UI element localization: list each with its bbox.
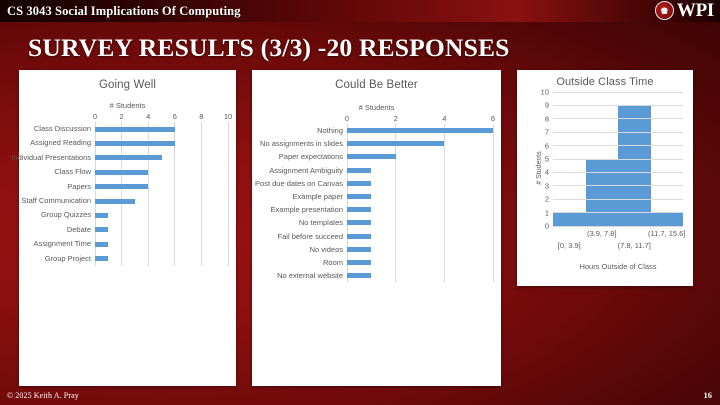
bar-category-label: Example presentation	[270, 203, 343, 216]
bar-row: Nothing	[347, 124, 493, 137]
plot-area-going-well: Class DiscussionAssigned ReadingIndividu…	[95, 122, 228, 266]
bar-category-label: Debate	[67, 223, 91, 237]
bar-category-label: Assignment Ambiguity	[269, 164, 343, 177]
bar-category-label: No external website	[277, 269, 343, 282]
x-tick-label: 8	[199, 112, 203, 122]
bar-category-label: Individual Presentations	[11, 151, 91, 165]
bar-row: Assignment Time	[95, 237, 228, 251]
gridline	[553, 185, 683, 186]
chart-body-going-well: 0246810 Class DiscussionAssigned Reading…	[19, 112, 236, 266]
bar-fill	[347, 194, 371, 199]
bar-row: Papers	[95, 180, 228, 194]
x-tick-label: 10	[224, 112, 232, 122]
y-tick-label: 6	[545, 141, 549, 150]
bar-category-label: No videos	[310, 243, 343, 256]
bar-row: Paper expectations	[347, 150, 493, 163]
footer-page-number: 16	[704, 390, 713, 400]
bar-category-label: Example paper	[293, 190, 343, 203]
histogram-bar	[618, 105, 651, 226]
gridline	[553, 199, 683, 200]
x-tick-label: 6	[491, 114, 495, 124]
bar-rows-going-well: Class DiscussionAssigned ReadingIndividu…	[95, 122, 228, 266]
bar-row: Assigned Reading	[95, 136, 228, 150]
chart-title-outside-class-time: Outside Class Time	[517, 76, 693, 88]
bar-category-label: No assignments in slides	[260, 137, 343, 150]
bar-row: Staff Communication	[95, 194, 228, 208]
bar-row: Assignment Ambiguity	[347, 164, 493, 177]
bar-fill	[347, 234, 371, 239]
histogram-bar	[586, 159, 619, 226]
x-tick-label: 2	[394, 114, 398, 124]
x-tick-label: 2	[120, 112, 124, 122]
bar-category-label: Assigned Reading	[30, 136, 91, 150]
bar-category-label: Paper expectations	[279, 150, 343, 163]
bar-row: Debate	[95, 223, 228, 237]
bar-category-label: Group Project	[45, 252, 91, 266]
bar-fill	[347, 181, 371, 186]
bar-category-label: Assignment Time	[33, 237, 91, 251]
wpi-logo: WPI	[655, 1, 714, 20]
bar-row: Post due dates on Canvas	[347, 177, 493, 190]
chart-panel-could-be-better: Could Be Better # Students 0246 NothingN…	[252, 70, 501, 386]
plot-area-could-be-better: NothingNo assignments in slidesPaper exp…	[347, 124, 493, 282]
bar-category-label: Fail before succeed	[278, 230, 343, 243]
gridline	[553, 145, 683, 146]
axis-title-going-well: # Students	[19, 101, 236, 110]
bar-category-label: Room	[323, 256, 343, 269]
bar-row: Class Flow	[95, 165, 228, 179]
y-tick-label: 0	[545, 222, 549, 231]
bar-fill	[95, 227, 108, 232]
chart-title-going-well: Going Well	[19, 79, 236, 91]
bar-row: Example paper	[347, 190, 493, 203]
bar-fill	[347, 207, 371, 212]
bar-row: Group Quizzes	[95, 208, 228, 222]
y-tick-label: 7	[545, 128, 549, 137]
course-title: CS 3043 Social Implications Of Computing	[7, 4, 241, 19]
wpi-seal-icon	[655, 1, 674, 20]
bar-row: Individual Presentations	[95, 151, 228, 165]
histogram-bar	[651, 213, 684, 226]
bar-fill	[95, 256, 108, 261]
x-tick-labels-going-well: 0246810	[95, 112, 228, 122]
x-tick-label: [0, 3.9]	[558, 241, 581, 250]
gridline	[553, 226, 683, 227]
x-tick-label: 0	[345, 114, 349, 124]
bar-category-label: Class Discussion	[34, 122, 91, 136]
chart-panel-going-well: Going Well # Students 0246810 Class Disc…	[19, 70, 236, 386]
bar-row: No external website	[347, 269, 493, 282]
x-tick-label: (11.7, 15.6]	[648, 229, 685, 238]
bar-fill	[347, 168, 371, 173]
bar-fill	[95, 184, 148, 189]
bar-category-label: Class Flow	[54, 165, 91, 179]
bar-category-label: Post due dates on Canvas	[255, 177, 343, 190]
bar-row: No templates	[347, 216, 493, 229]
bar-fill	[95, 242, 108, 247]
gridline	[553, 92, 683, 93]
bar-row: Class Discussion	[95, 122, 228, 136]
bar-category-label: Nothing	[317, 124, 343, 137]
footer-copyright: © 2025 Keith A. Pray	[7, 391, 79, 400]
plot-area-outside-class-time	[553, 92, 683, 227]
bar-fill	[95, 199, 135, 204]
bar-row: Fail before succeed	[347, 230, 493, 243]
bar-fill	[95, 141, 175, 146]
y-tick-label: 10	[541, 88, 549, 97]
chart-panel-outside-class-time: Outside Class Time # Students 0123456789…	[517, 70, 693, 286]
x-tick-label: 4	[146, 112, 150, 122]
bar-row: Room	[347, 256, 493, 269]
bar-row: Group Project	[95, 252, 228, 266]
y-tick-label: 1	[545, 208, 549, 217]
slide-canvas: CS 3043 Social Implications Of Computing…	[0, 0, 720, 405]
y-tick-label: 3	[545, 181, 549, 190]
x-tick-labels-could-be-better: 0246	[347, 114, 493, 124]
bar-category-label: No templates	[299, 216, 343, 229]
x-tick-labels-outside-class-time: [0, 3.9](3.9, 7.8](7.8, 11.7](11.7, 15.6…	[553, 228, 683, 258]
bar-row: No videos	[347, 243, 493, 256]
y-tick-label: 2	[545, 195, 549, 204]
page-title: SURVEY RESULTS (3/3) -20 RESPONSES	[28, 33, 510, 63]
bar-row: Example presentation	[347, 203, 493, 216]
axis-title-could-be-better: # Students	[252, 103, 501, 112]
bar-category-label: Staff Communication	[22, 194, 91, 208]
bar-fill	[95, 170, 148, 175]
x-tick-label: (3.9, 7.8]	[587, 229, 617, 238]
x-axis-title-outside-class-time: Hours Outside of Class	[553, 262, 683, 271]
bar-fill	[347, 128, 493, 133]
gridline	[553, 159, 683, 160]
x-tick-label: 4	[442, 114, 446, 124]
x-tick-label: 6	[173, 112, 177, 122]
gridline	[553, 212, 683, 213]
bar-fill	[95, 127, 175, 132]
y-tick-label: 5	[545, 155, 549, 164]
bar-category-label: Papers	[67, 180, 91, 194]
y-tick-label: 9	[545, 101, 549, 110]
wpi-wordmark: WPI	[677, 1, 714, 20]
bar-fill	[347, 154, 396, 159]
bar-row: No assignments in slides	[347, 137, 493, 150]
gridline	[553, 132, 683, 133]
gridline	[553, 172, 683, 173]
header-bar: CS 3043 Social Implications Of Computing…	[0, 0, 720, 22]
bar-fill	[347, 260, 371, 265]
bar-rows-could-be-better: NothingNo assignments in slidesPaper exp…	[347, 124, 493, 282]
bar-category-label: Group Quizzes	[41, 208, 91, 222]
bar-fill	[347, 220, 371, 225]
gridline	[553, 118, 683, 119]
bar-fill	[95, 155, 162, 160]
y-tick-labels-outside-class-time: 012345678910	[533, 92, 549, 226]
bar-fill	[347, 141, 444, 146]
gridline	[553, 105, 683, 106]
chart-body-outside-class-time: # Students 012345678910 [0, 3.9](3.9, 7.…	[523, 92, 685, 244]
chart-title-could-be-better: Could Be Better	[252, 79, 501, 91]
histogram-bar	[553, 213, 586, 226]
bar-fill	[347, 247, 371, 252]
bar-fill	[347, 273, 371, 278]
x-tick-label: (7.8, 11.7]	[618, 241, 651, 250]
x-tick-label: 0	[93, 112, 97, 122]
chart-body-could-be-better: 0246 NothingNo assignments in slidesPape…	[252, 114, 501, 282]
bar-fill	[95, 213, 108, 218]
y-tick-label: 8	[545, 114, 549, 123]
y-tick-label: 4	[545, 168, 549, 177]
